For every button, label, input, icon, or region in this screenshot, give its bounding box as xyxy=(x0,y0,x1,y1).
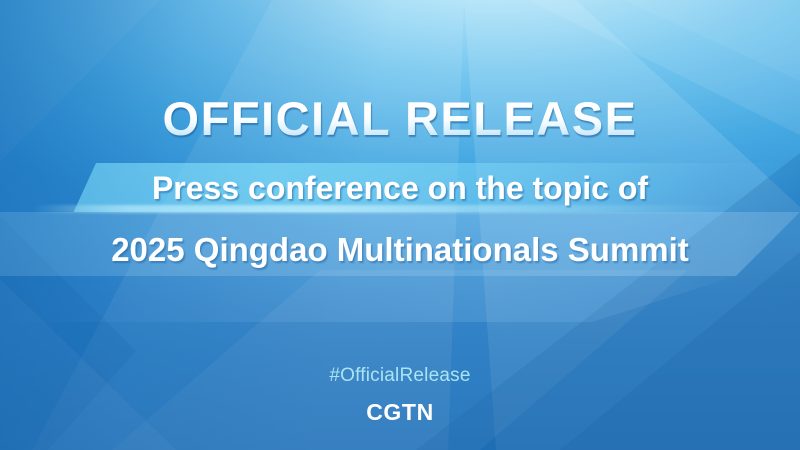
slide-content: OFFICIAL RELEASE Press conference on the… xyxy=(0,0,800,450)
cgtn-logo: CGTN xyxy=(0,398,800,426)
official-release-slide: OFFICIAL RELEASE Press conference on the… xyxy=(0,0,800,450)
subtitle-line-2: 2025 Qingdao Multinationals Summit xyxy=(0,228,800,272)
subtitle-line-1: Press conference on the topic of xyxy=(0,167,800,209)
page-title: OFFICIAL RELEASE xyxy=(0,92,800,146)
hashtag-label: #OfficialRelease xyxy=(0,364,800,388)
